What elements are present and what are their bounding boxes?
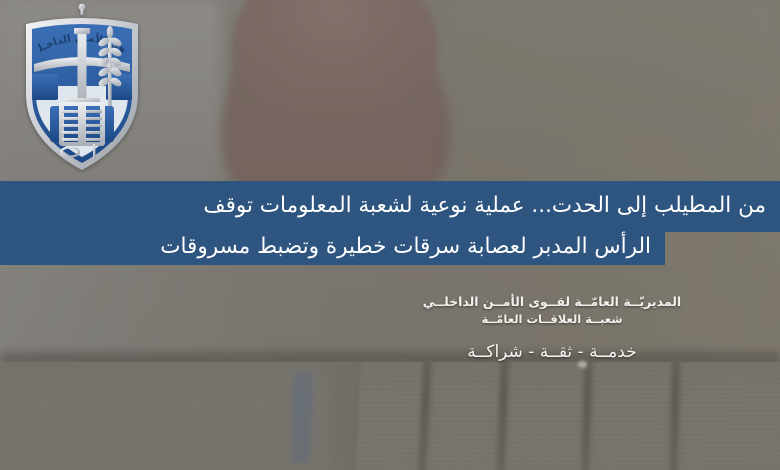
- headline-line-1: من المطيلب إلى الحدت... عملية نوعية لشعب…: [0, 181, 780, 232]
- emblem-tower-device: [50, 102, 114, 146]
- emblem-baton: [93, 144, 95, 158]
- banknote-haze: [0, 362, 780, 470]
- banknote-bundles: [0, 362, 780, 470]
- organization-motto: خدمــة - ثقــة - شراكــة: [342, 341, 762, 363]
- public-relations-department: شعبــة العلاقــات العامّــة: [342, 311, 762, 328]
- emblem-finial: [79, 4, 86, 15]
- person-torso-from-behind: [232, 0, 437, 195]
- headline-line-2: الرأس المدبر لعصابة سرقات خطيرة وتضبط مس…: [0, 232, 665, 265]
- credits-block: المديريّــة العامّــة لقــوى الأمــن الد…: [342, 293, 762, 363]
- issuing-directorate: المديريّــة العامّــة لقــوى الأمــن الد…: [342, 293, 762, 310]
- news-card: قـوى الأمـن الداخـلي: [0, 0, 780, 470]
- headline: من المطيلب إلى الحدت... عملية نوعية لشعب…: [0, 181, 780, 265]
- isf-emblem: قـوى الأمـن الداخـلي: [12, 2, 152, 174]
- wall-right-panel: [450, 0, 780, 195]
